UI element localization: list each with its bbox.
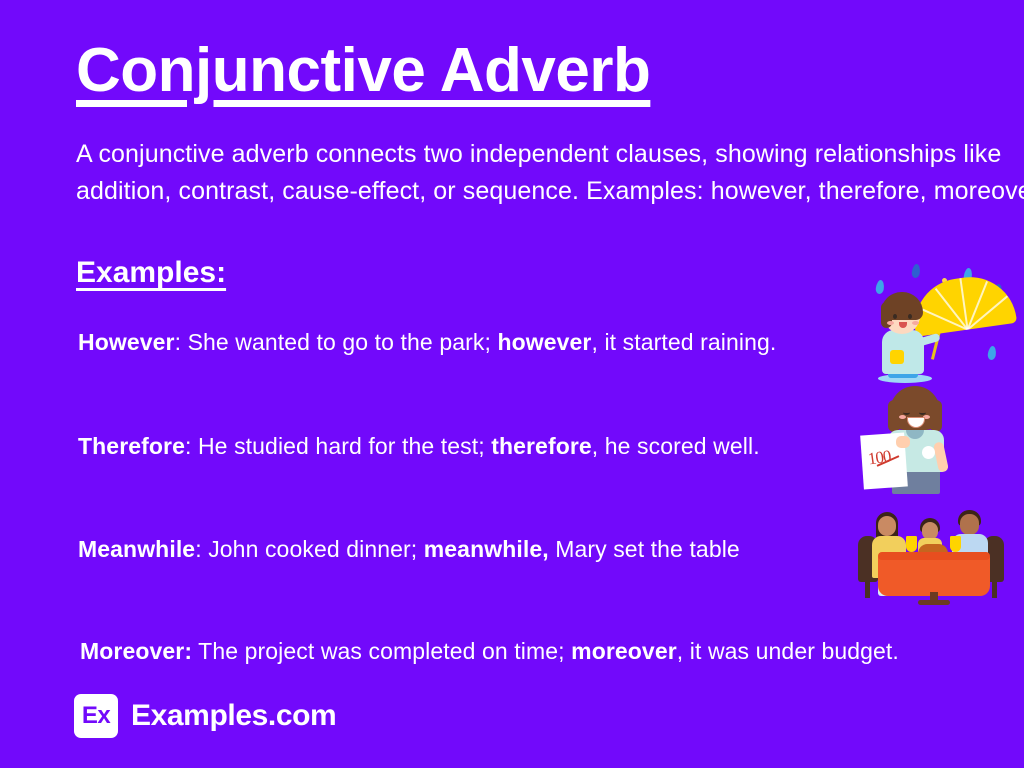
student-cheek [899, 415, 906, 419]
raindrop-icon [987, 346, 997, 361]
example-sentence-before: She wanted to go to the park; [181, 329, 497, 355]
drinking-glass [906, 536, 917, 552]
umbrella-canopy [909, 271, 1017, 337]
girl-eye [908, 314, 912, 319]
girl-cheek [887, 321, 894, 325]
poster-canvas: Conjunctive Adverb A conjunctive adverb … [0, 0, 1024, 768]
family-dinner-illustration [856, 506, 1024, 604]
girl-cheek [912, 321, 919, 325]
example-term: Therefore [78, 433, 185, 459]
chair-leg [992, 580, 997, 598]
example-sentence-after: , it started raining. [591, 329, 776, 355]
man-face [960, 514, 979, 535]
examples-logo-icon: Ex [74, 694, 118, 738]
woman-face [878, 516, 896, 536]
example-row: Moreover: The project was completed on t… [80, 638, 1024, 665]
page-description: A conjunctive adverb connects two indepe… [76, 136, 1024, 210]
example-sentence-before: He studied hard for the test; [191, 433, 491, 459]
tablecloth-edge [878, 552, 990, 560]
student-hand [896, 436, 910, 448]
test-score-girl-illustration: 100 [862, 386, 966, 494]
chair-leg [865, 580, 870, 598]
site-logo-text: Examples.com [131, 699, 336, 733]
umbrella-girl-illustration [866, 262, 1024, 384]
example-emphasis: however [497, 329, 591, 355]
raindrop-icon [911, 264, 921, 279]
example-term: However [78, 329, 175, 355]
page-title: Conjunctive Adverb [76, 38, 650, 103]
examples-heading: Examples: [76, 256, 226, 290]
example-sentence-before: John cooked dinner; [202, 536, 424, 562]
example-emphasis: moreover [571, 638, 677, 664]
example-sentence-after: Mary set the table [549, 536, 740, 562]
girl-bag [890, 350, 904, 364]
example-separator: : [184, 638, 192, 664]
example-sentence-after: , it was under budget. [677, 638, 899, 664]
example-term: Moreover [80, 638, 184, 664]
drinking-glass [950, 536, 961, 552]
student-badge [922, 446, 935, 459]
example-emphasis: therefore [491, 433, 592, 459]
site-logo[interactable]: Ex Examples.com [74, 694, 336, 738]
example-sentence-before: The project was completed on time; [192, 638, 571, 664]
raindrop-icon [875, 280, 885, 295]
test-score-label: 100 [867, 447, 892, 470]
example-term: Meanwhile [78, 536, 195, 562]
example-sentence-after: , he scored well. [592, 433, 760, 459]
girl-eye [893, 314, 897, 319]
example-emphasis: meanwhile, [424, 536, 549, 562]
table-base [918, 600, 950, 605]
